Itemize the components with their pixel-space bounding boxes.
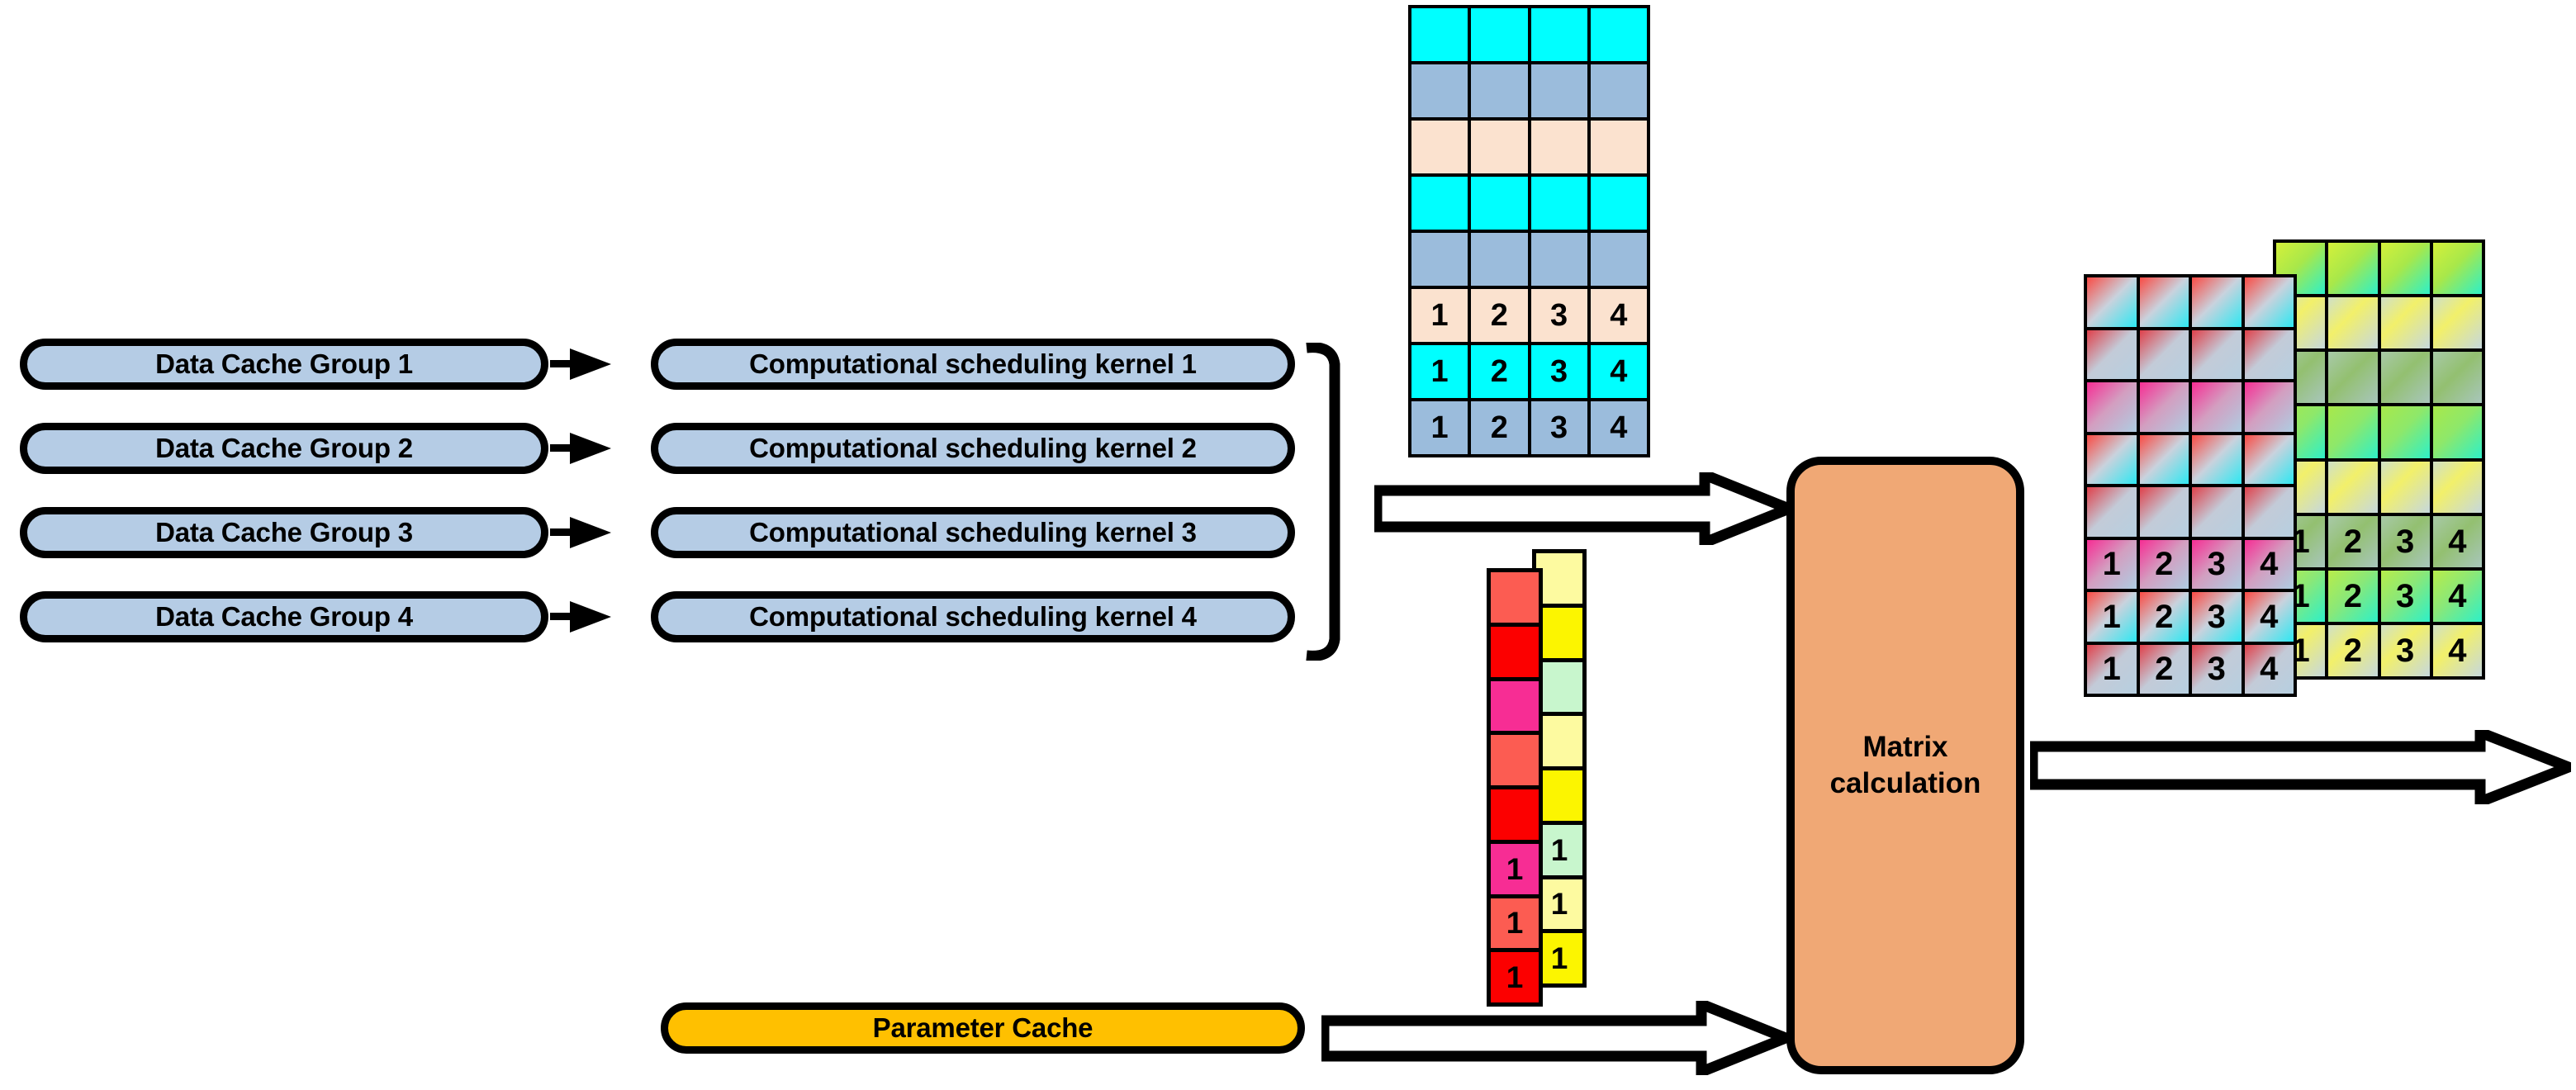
kernel-group-brace	[1305, 343, 1346, 661]
parameter-column-back-cell-3	[1536, 662, 1582, 713]
parameter-column-back-cell-8: 1	[1536, 933, 1582, 983]
input-feature-matrix-cell-4-3	[1531, 177, 1587, 230]
input-matrix-to-calc-arrow	[1374, 472, 1791, 545]
input-feature-matrix-cell-8-2: 2	[1471, 401, 1527, 454]
output-matrix-front-cell-8-3: 3	[2192, 645, 2242, 694]
arrow-right-icon-3	[550, 517, 616, 548]
computational-scheduling-kernel-4[interactable]: Computational scheduling kernel 4	[651, 591, 1295, 642]
output-matrix-front-cell-3-4	[2245, 382, 2294, 432]
input-feature-matrix-cell-3-4	[1591, 121, 1647, 173]
parameter-cache-label: Parameter Cache	[873, 1012, 1093, 1044]
input-feature-matrix-cell-4-1	[1411, 177, 1468, 230]
output-matrix-front-cell-6-3: 3	[2192, 540, 2242, 590]
output-matrix-back-cell-1-2	[2328, 243, 2377, 294]
input-feature-matrix-cell-6-1: 1	[1411, 289, 1468, 342]
input-feature-matrix-cell-4-4	[1591, 177, 1647, 230]
matrix-calculation-line2: calculation	[1830, 765, 1981, 802]
output-matrix-front-cell-7-1: 1	[2087, 592, 2137, 642]
input-feature-matrix-cell-5-4	[1591, 233, 1647, 286]
input-feature-matrix-cell-5-3	[1531, 233, 1587, 286]
arrow-head	[570, 433, 611, 464]
kernel-4-label: Computational scheduling kernel 4	[749, 601, 1197, 633]
output-matrix-front-cell-1-3	[2192, 277, 2242, 327]
input-feature-matrix-cell-2-2	[1471, 64, 1527, 117]
parameter-column-back-cell-2	[1536, 608, 1582, 658]
input-feature-matrix-cell-1-2	[1471, 8, 1527, 61]
input-feature-matrix-cell-1-4	[1591, 8, 1647, 61]
arrow-stem	[550, 360, 572, 367]
output-matrix-front-cell-7-3: 3	[2192, 592, 2242, 642]
computational-scheduling-kernel-3[interactable]: Computational scheduling kernel 3	[651, 507, 1295, 558]
output-matrix-front: 123412341234	[2084, 274, 2297, 697]
output-matrix-back-cell-6-4: 4	[2433, 516, 2482, 567]
output-matrix-back-cell-4-4	[2433, 406, 2482, 457]
parameter-column-front-cell-4	[1491, 735, 1539, 785]
input-feature-matrix-cell-5-1	[1411, 233, 1468, 286]
output-matrix-front-cell-2-1	[2087, 330, 2137, 380]
data-cache-group-4-label: Data Cache Group 4	[155, 601, 413, 633]
kernel-3-label: Computational scheduling kernel 3	[749, 517, 1197, 548]
matrix-calculation-block[interactable]: Matrix calculation	[1786, 457, 2024, 1074]
output-matrix-front-cell-6-1: 1	[2087, 540, 2137, 590]
output-matrix-back-cell-5-3	[2381, 462, 2430, 513]
data-cache-group-3-label: Data Cache Group 3	[155, 517, 413, 548]
input-feature-matrix-cell-8-4: 4	[1591, 401, 1647, 454]
output-matrix-front-cell-2-4	[2245, 330, 2294, 380]
input-feature-matrix-cell-8-3: 3	[1531, 401, 1587, 454]
input-feature-matrix-cell-8-1: 1	[1411, 401, 1468, 454]
output-matrix-front-cell-7-4: 4	[2245, 592, 2294, 642]
parameter-column-front-cell-1	[1491, 572, 1539, 623]
diagram-canvas: Data Cache Group 1 Data Cache Group 2 Da…	[0, 0, 2576, 1090]
output-matrix-front-cell-6-4: 4	[2245, 540, 2294, 590]
arrow-right-icon-4	[550, 601, 616, 633]
data-cache-group-1-label: Data Cache Group 1	[155, 348, 413, 380]
output-matrix-back-cell-3-4	[2433, 352, 2482, 403]
parameter-column-back-cell-4	[1536, 716, 1582, 766]
input-feature-matrix-cell-3-3	[1531, 121, 1587, 173]
output-matrix-back-cell-6-2: 2	[2328, 516, 2377, 567]
parameter-column-front-cell-7: 1	[1491, 898, 1539, 949]
matrix-calculation-line1: Matrix	[1830, 729, 1981, 765]
parameter-column-front-cell-2	[1491, 627, 1539, 677]
arrow-head	[570, 601, 611, 633]
arrow-right-icon-1	[550, 348, 616, 380]
output-matrix-front-cell-5-3	[2192, 487, 2242, 537]
output-matrix-back-cell-8-2: 2	[2328, 625, 2377, 676]
parameter-column-front-cell-6: 1	[1491, 844, 1539, 894]
output-matrix-back-cell-7-3: 3	[2381, 571, 2430, 622]
param-to-calc-arrow	[1321, 1001, 1788, 1075]
input-feature-matrix-cell-1-3	[1531, 8, 1587, 61]
parameter-column-front-cell-3	[1491, 681, 1539, 732]
output-matrix-back-cell-8-3: 3	[2381, 625, 2430, 676]
matrix-calculation-text: Matrix calculation	[1830, 729, 1981, 802]
output-matrix-back-cell-8-4: 4	[2433, 625, 2482, 676]
output-matrix-front-cell-1-4	[2245, 277, 2294, 327]
input-feature-matrix-cell-2-4	[1591, 64, 1647, 117]
data-cache-group-3[interactable]: Data Cache Group 3	[20, 507, 548, 558]
output-matrix-front-cell-8-4: 4	[2245, 645, 2294, 694]
output-matrix-front-cell-5-2	[2140, 487, 2189, 537]
input-feature-matrix-cell-7-3: 3	[1531, 345, 1587, 398]
parameter-cache-button[interactable]: Parameter Cache	[661, 1002, 1305, 1054]
kernel-1-label: Computational scheduling kernel 1	[749, 348, 1197, 380]
output-matrix-back-cell-5-4	[2433, 462, 2482, 513]
output-matrix-back-cell-7-2: 2	[2328, 571, 2377, 622]
output-matrix-back-cell-2-2	[2328, 297, 2377, 348]
output-matrix-back: 123412341234	[2273, 239, 2485, 680]
input-feature-matrix-cell-6-3: 3	[1531, 289, 1587, 342]
output-matrix-front-cell-2-3	[2192, 330, 2242, 380]
output-matrix-back-cell-4-2	[2328, 406, 2377, 457]
parameter-column-front: 111	[1487, 568, 1543, 1007]
output-matrix-front-cell-1-1	[2087, 277, 2137, 327]
block-arrow-right-icon	[1321, 1001, 1788, 1075]
input-feature-matrix-cell-2-1	[1411, 64, 1468, 117]
output-matrix-front-cell-6-2: 2	[2140, 540, 2189, 590]
parameter-column-back-cell-7: 1	[1536, 879, 1582, 930]
kernel-2-label: Computational scheduling kernel 2	[749, 433, 1197, 464]
data-cache-group-1[interactable]: Data Cache Group 1	[20, 339, 548, 390]
output-matrix-front-cell-3-3	[2192, 382, 2242, 432]
output-matrix-front-cell-5-1	[2087, 487, 2137, 537]
output-matrix-front-cell-8-2: 2	[2140, 645, 2189, 694]
input-feature-matrix-cell-1-1	[1411, 8, 1468, 61]
output-matrix-back-cell-6-3: 3	[2381, 516, 2430, 567]
parameter-column-front-cell-5	[1491, 789, 1539, 840]
calc-to-output-arrow	[2030, 730, 2571, 804]
parameter-column-back-cell-5	[1536, 770, 1582, 821]
data-cache-group-2[interactable]: Data Cache Group 2	[20, 423, 548, 474]
data-cache-group-4[interactable]: Data Cache Group 4	[20, 591, 548, 642]
output-matrix-front-cell-7-2: 2	[2140, 592, 2189, 642]
arrow-stem	[550, 528, 572, 536]
output-matrix-back-cell-2-3	[2381, 297, 2430, 348]
computational-scheduling-kernel-1[interactable]: Computational scheduling kernel 1	[651, 339, 1295, 390]
parameter-column-back-cell-6: 1	[1536, 825, 1582, 875]
output-matrix-back-cell-3-2	[2328, 352, 2377, 403]
output-matrix-front-cell-4-1	[2087, 435, 2137, 485]
output-matrix-back-cell-4-3	[2381, 406, 2430, 457]
input-feature-matrix-cell-6-4: 4	[1591, 289, 1647, 342]
output-matrix-front-cell-1-2	[2140, 277, 2189, 327]
output-matrix-back-cell-3-3	[2381, 352, 2430, 403]
input-feature-matrix-cell-4-2	[1471, 177, 1527, 230]
input-feature-matrix-cell-7-1: 1	[1411, 345, 1468, 398]
output-matrix-front-cell-3-1	[2087, 382, 2137, 432]
arrow-stem	[550, 613, 572, 620]
input-feature-matrix-cell-5-2	[1471, 233, 1527, 286]
block-arrow-right-icon	[2030, 730, 2571, 804]
data-cache-group-2-label: Data Cache Group 2	[155, 433, 413, 464]
output-matrix-back-cell-7-4: 4	[2433, 571, 2482, 622]
input-feature-matrix: 123412341234	[1408, 5, 1650, 457]
arrow-head	[570, 517, 611, 548]
arrow-right-icon-2	[550, 433, 616, 464]
output-matrix-front-cell-2-2	[2140, 330, 2189, 380]
output-matrix-front-cell-4-3	[2192, 435, 2242, 485]
output-matrix-back-cell-1-4	[2433, 243, 2482, 294]
output-matrix-front-cell-5-4	[2245, 487, 2294, 537]
input-feature-matrix-cell-3-2	[1471, 121, 1527, 173]
output-matrix-back-cell-2-4	[2433, 297, 2482, 348]
output-matrix-front-cell-8-1: 1	[2087, 645, 2137, 694]
arrow-stem	[550, 444, 572, 452]
input-feature-matrix-cell-3-1	[1411, 121, 1468, 173]
input-feature-matrix-cell-2-3	[1531, 64, 1587, 117]
block-arrow-right-icon	[1374, 472, 1791, 545]
output-matrix-front-cell-4-4	[2245, 435, 2294, 485]
arrow-head	[570, 348, 611, 380]
parameter-column-back-cell-1	[1536, 553, 1582, 604]
output-matrix-back-cell-1-3	[2381, 243, 2430, 294]
output-matrix-front-cell-3-2	[2140, 382, 2189, 432]
brace-icon	[1305, 343, 1346, 661]
output-matrix-front-cell-4-2	[2140, 435, 2189, 485]
input-feature-matrix-cell-7-2: 2	[1471, 345, 1527, 398]
computational-scheduling-kernel-2[interactable]: Computational scheduling kernel 2	[651, 423, 1295, 474]
input-feature-matrix-cell-6-2: 2	[1471, 289, 1527, 342]
output-matrix-back-cell-5-2	[2328, 462, 2377, 513]
parameter-column-front-cell-8: 1	[1491, 952, 1539, 1002]
input-feature-matrix-cell-7-4: 4	[1591, 345, 1647, 398]
